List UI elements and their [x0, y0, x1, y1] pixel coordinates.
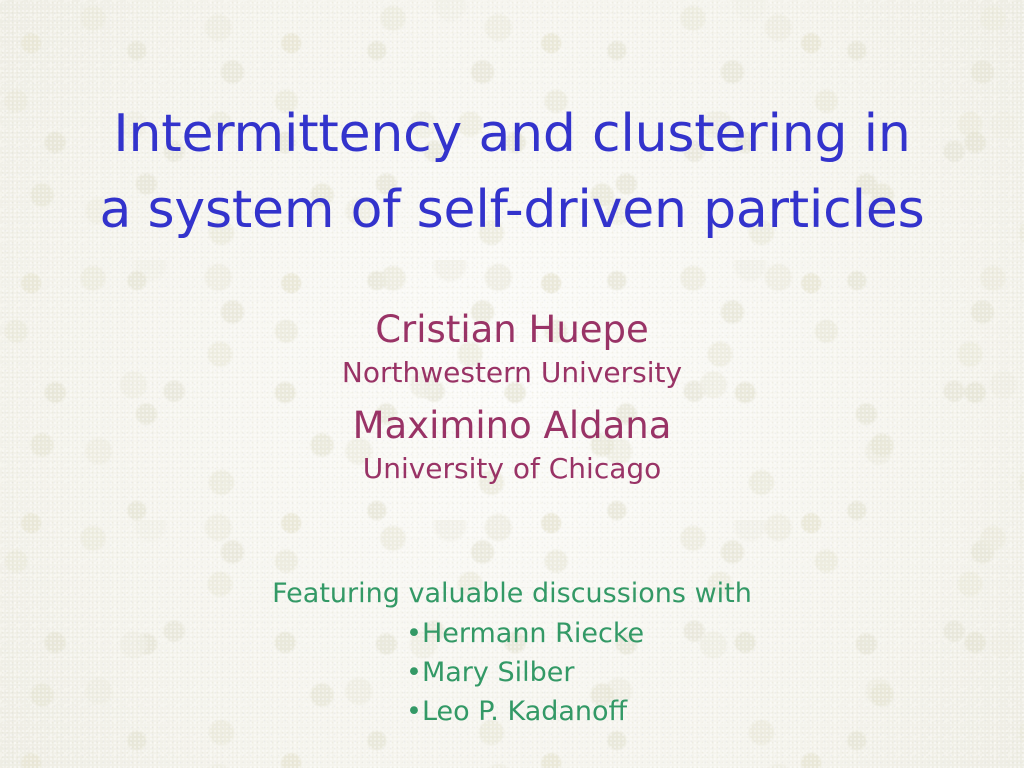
- title-line-2: a system of self-driven particles: [0, 172, 1024, 248]
- acknowledgements-block: Featuring valuable discussions with •Her…: [0, 574, 1024, 731]
- acknowledgements-list: •Hermann Riecke •Mary Silber •Leo P. Kad…: [0, 614, 1024, 731]
- author-affiliation-1: Northwestern University: [0, 353, 1024, 393]
- bullet-icon: •: [406, 692, 422, 731]
- slide-content: Intermittency and clustering in a system…: [0, 0, 1024, 768]
- bullet-icon: •: [406, 614, 422, 653]
- authors-block: Cristian Huepe Northwestern University M…: [0, 307, 1024, 489]
- list-item: •Hermann Riecke: [0, 614, 1024, 653]
- page-title: Intermittency and clustering in a system…: [0, 96, 1024, 248]
- author-affiliation-2: University of Chicago: [0, 449, 1024, 489]
- title-slide: Intermittency and clustering in a system…: [0, 0, 1024, 768]
- list-item-label: Hermann Riecke: [422, 618, 644, 649]
- list-item-label: Mary Silber: [422, 657, 575, 688]
- acknowledgements-heading: Featuring valuable discussions with: [0, 574, 1024, 614]
- authors-spacer: [0, 393, 1024, 403]
- author-name-2: Maximino Aldana: [0, 403, 1024, 449]
- list-item: •Mary Silber: [0, 653, 1024, 692]
- list-item: •Leo P. Kadanoff: [0, 692, 1024, 731]
- title-line-1: Intermittency and clustering in: [0, 96, 1024, 172]
- list-item-label: Leo P. Kadanoff: [422, 696, 627, 727]
- author-name-1: Cristian Huepe: [0, 307, 1024, 353]
- bullet-icon: •: [406, 653, 422, 692]
